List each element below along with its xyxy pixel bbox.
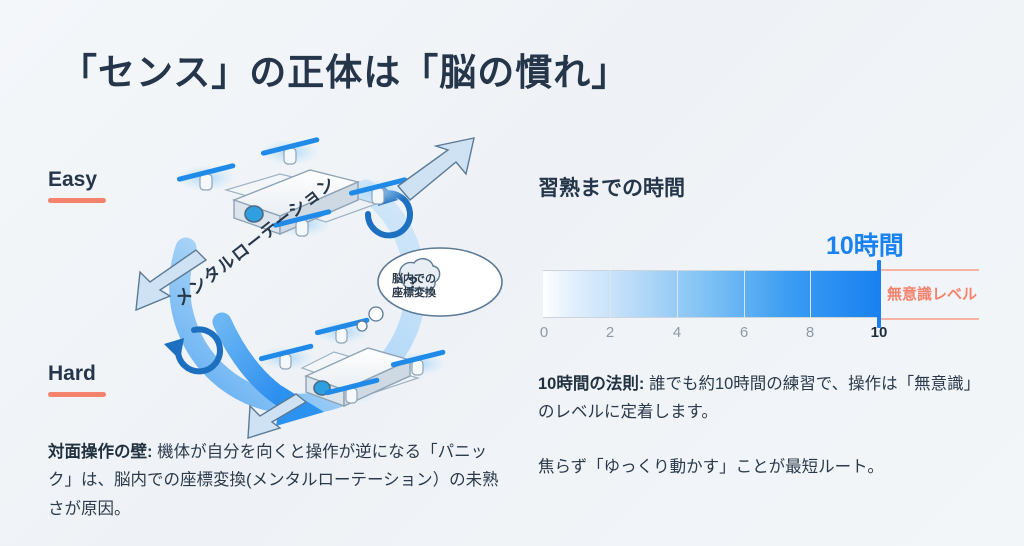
mastery-time-chart: 10時間 無意識レベル 0 2 4 6 8 10 <box>538 228 978 346</box>
tick-4: 4 <box>673 324 681 341</box>
gridline-8 <box>810 270 811 318</box>
right-caption-p1: 10時間の法則: 誰でも約10時間の練習で、操作は「無意識」のレベルに定着します… <box>538 370 988 427</box>
right-caption: 10時間の法則: 誰でも約10時間の練習で、操作は「無意識」のレベルに定着します… <box>538 370 988 481</box>
left-caption-lead: 対面操作の壁: <box>48 443 153 461</box>
gridline-2 <box>610 270 611 318</box>
tick-0: 0 <box>540 324 548 341</box>
zone-line-bottom <box>881 318 979 320</box>
direction-arrow-upright <box>398 138 474 200</box>
tick-6: 6 <box>740 324 748 341</box>
marker-label: 10時間 <box>826 226 904 262</box>
zone-label: 無意識レベル <box>887 283 977 304</box>
slide-root: 「センス」の正体は「脳の慣れ」 Easy Hard <box>0 0 1024 546</box>
bar-fill <box>543 271 877 317</box>
right-caption-p2: 焦らず「ゆっくり動かす」ことが最短ルート。 <box>538 453 988 481</box>
tick-8: 8 <box>806 324 814 341</box>
right-caption-lead: 10時間の法則: <box>538 375 644 393</box>
tick-10: 10 <box>871 324 888 341</box>
hard-underline <box>48 392 106 397</box>
section-heading: 習熟までの時間 <box>538 172 685 202</box>
thought-bubble-line2: 座標変換 <box>392 286 470 300</box>
page-title: 「センス」の正体は「脳の慣れ」 <box>60 42 629 96</box>
zone-line-top <box>881 269 979 271</box>
tick-2: 2 <box>606 324 614 341</box>
thought-bubble-line1: 脳内での <box>392 272 470 286</box>
thought-bubble-text: 脳内での 座標変換 <box>392 272 470 301</box>
easy-underline <box>48 198 106 203</box>
ten-hour-marker <box>877 260 881 328</box>
gridline-6 <box>744 270 745 318</box>
gridline-4 <box>677 270 678 318</box>
hard-label: Hard <box>48 362 96 386</box>
left-caption: 対面操作の壁: 機体が自分を向くと操作が逆になる「パニック」は、脳内での座標変換… <box>48 438 508 523</box>
easy-label: Easy <box>48 168 97 192</box>
